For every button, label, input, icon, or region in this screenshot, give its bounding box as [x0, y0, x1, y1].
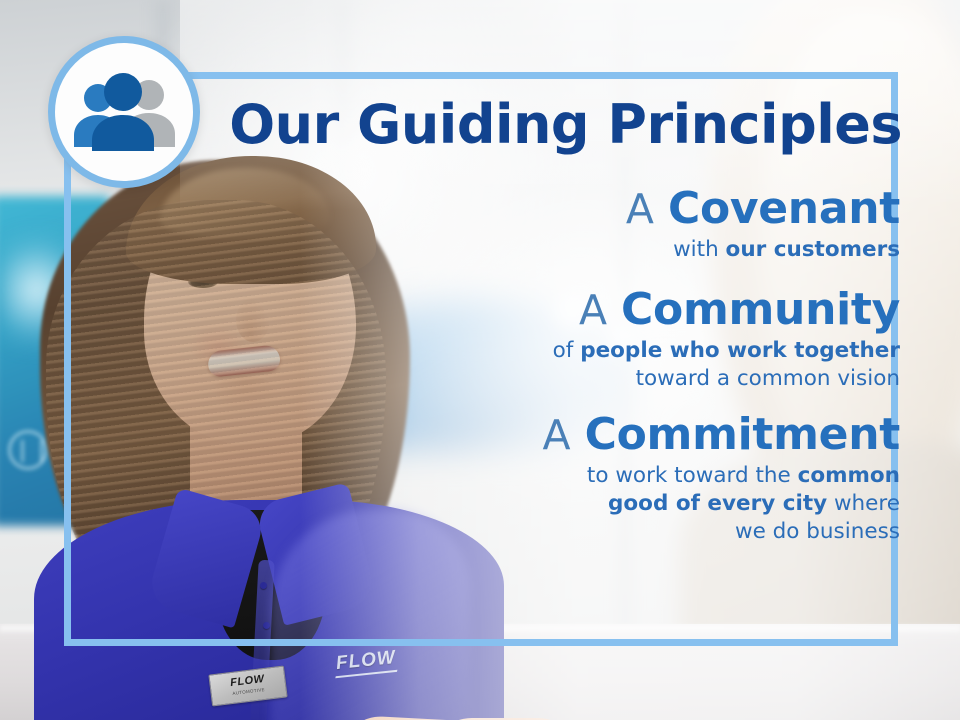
page-title: Our Guiding Principles: [0, 98, 902, 152]
subtext-plain: toward a common vision: [636, 366, 900, 391]
subtext-plain: we do business: [735, 519, 900, 544]
subtext-plain: to work toward the: [587, 463, 798, 488]
chest-logo: FLOW: [335, 647, 397, 675]
subtext-bold: our customers: [726, 237, 900, 262]
principle-covenant: A Covenant with our customers: [200, 186, 900, 265]
principle-article: A: [579, 286, 607, 334]
principle-keyword: Commitment: [585, 409, 900, 460]
subtext-bold: people who work together: [580, 338, 900, 363]
subtext-plain: where: [827, 491, 900, 516]
principle-article: A: [626, 185, 654, 233]
subtext-bold: good of every city: [608, 491, 827, 516]
principles-list: A Covenant with our customers A Communit…: [200, 186, 900, 547]
principle-article: A: [543, 411, 571, 459]
principle-community: A Community of people who work together …: [200, 287, 900, 394]
polo-button: [263, 622, 270, 629]
subtext-bold: common: [798, 463, 900, 488]
principle-subtext: of people who work together toward a com…: [200, 337, 900, 394]
principle-subtext: with our customers: [200, 236, 900, 264]
principle-heading: A Covenant: [200, 186, 900, 232]
principle-heading: A Community: [200, 287, 900, 333]
principle-keyword: Covenant: [668, 183, 900, 234]
principle-keyword: Community: [621, 284, 900, 335]
principle-commitment: A Commitment to work toward the common g…: [200, 412, 900, 547]
polo-button: [260, 582, 267, 589]
subtext-plain: with: [673, 237, 725, 262]
principle-subtext: to work toward the common good of every …: [200, 462, 900, 547]
promo-banner: FLOW AUTOMOTIVE FLOW: [0, 0, 960, 720]
principle-heading: A Commitment: [200, 412, 900, 458]
subtext-plain: of: [553, 338, 581, 363]
